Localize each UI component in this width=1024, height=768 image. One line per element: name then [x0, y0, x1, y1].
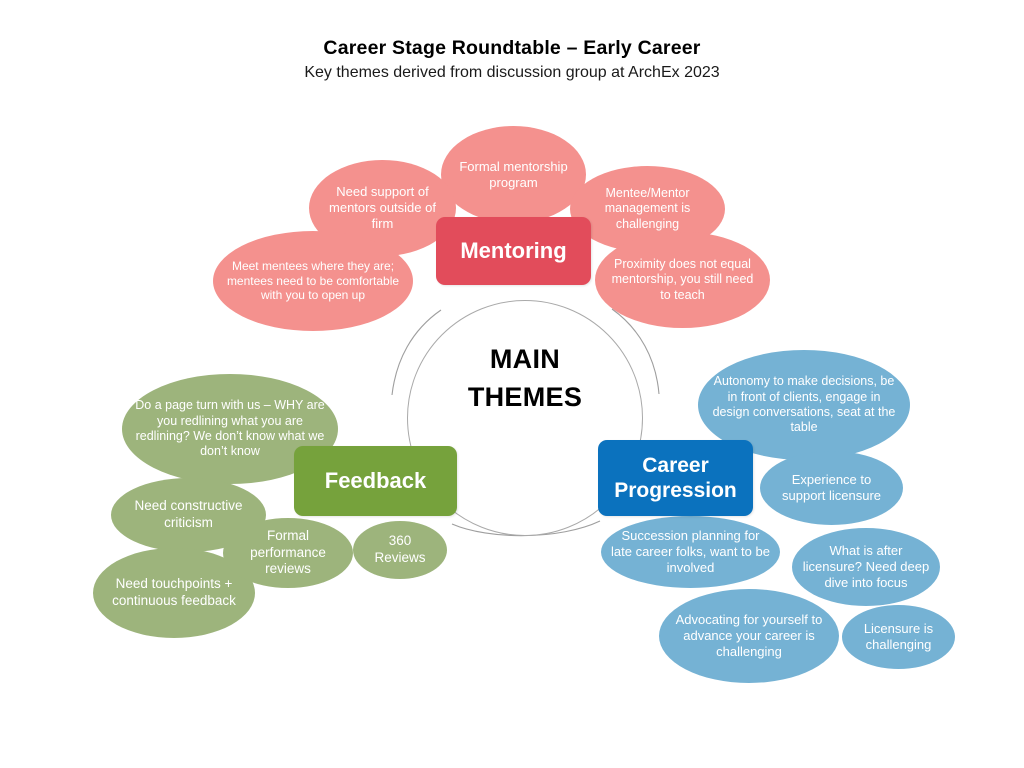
theme-label-line-1: Career: [642, 453, 709, 478]
bubble-career-5[interactable]: Advocating for yourself to advance your …: [659, 589, 839, 683]
bubble-text: Mentee/Mentor management is challenging: [580, 186, 715, 232]
page-title: Career Stage Roundtable – Early Career: [0, 36, 1024, 60]
main-themes-label: MAIN THEMES: [407, 340, 643, 417]
bubble-text: Autonomy to make decisions, be in front …: [708, 374, 900, 436]
bubble-text: Experience to support licensure: [770, 472, 893, 504]
bubble-text: Need constructive criticism: [121, 498, 256, 531]
bubble-text: Need support of mentors outside of firm: [319, 184, 446, 232]
bubble-mentoring-5[interactable]: Proximity does not equal mentorship, you…: [595, 232, 770, 328]
title-block: Career Stage Roundtable – Early Career K…: [0, 36, 1024, 84]
bubble-text: What is after licensure? Need deep dive …: [802, 543, 930, 591]
main-themes-line-2: THEMES: [407, 378, 643, 416]
bubble-career-6[interactable]: Licensure is challenging: [842, 605, 955, 669]
theme-label-text: Feedback: [325, 468, 427, 494]
bubble-text: Need touchpoints + continuous feedback: [103, 576, 245, 609]
bubble-career-3[interactable]: Succession planning for late career folk…: [601, 516, 780, 588]
theme-label-mentoring[interactable]: Mentoring: [436, 217, 591, 285]
bubble-text: 360 Reviews: [363, 533, 437, 566]
bubble-mentoring-3[interactable]: Meet mentees where they are; mentees nee…: [213, 231, 413, 331]
theme-label-feedback[interactable]: Feedback: [294, 446, 457, 516]
page-subtitle: Key themes derived from discussion group…: [0, 63, 1024, 84]
bubble-text: Licensure is challenging: [852, 621, 945, 653]
diagram-canvas: Career Stage Roundtable – Early Career K…: [0, 0, 1024, 768]
theme-label-line-2: Progression: [614, 478, 737, 503]
bubble-career-2[interactable]: Experience to support licensure: [760, 451, 903, 525]
bubble-text: Meet mentees where they are; mentees nee…: [223, 259, 403, 303]
bubble-text: Formal mentorship program: [451, 159, 576, 191]
theme-label-text: Mentoring: [460, 238, 566, 264]
bubble-mentoring-1[interactable]: Formal mentorship program: [441, 126, 586, 223]
bubble-text: Formal performance reviews: [233, 528, 343, 578]
bubble-text: Advocating for yourself to advance your …: [669, 612, 829, 660]
bubble-text: Succession planning for late career folk…: [611, 528, 770, 576]
bubble-career-4[interactable]: What is after licensure? Need deep dive …: [792, 528, 940, 606]
theme-label-career-progression[interactable]: Career Progression: [598, 440, 753, 516]
bubble-feedback-5[interactable]: 360 Reviews: [353, 521, 447, 579]
bubble-text: Proximity does not equal mentorship, you…: [605, 257, 760, 303]
main-themes-line-1: MAIN: [407, 340, 643, 378]
bubble-feedback-4[interactable]: Formal performance reviews: [223, 518, 353, 588]
